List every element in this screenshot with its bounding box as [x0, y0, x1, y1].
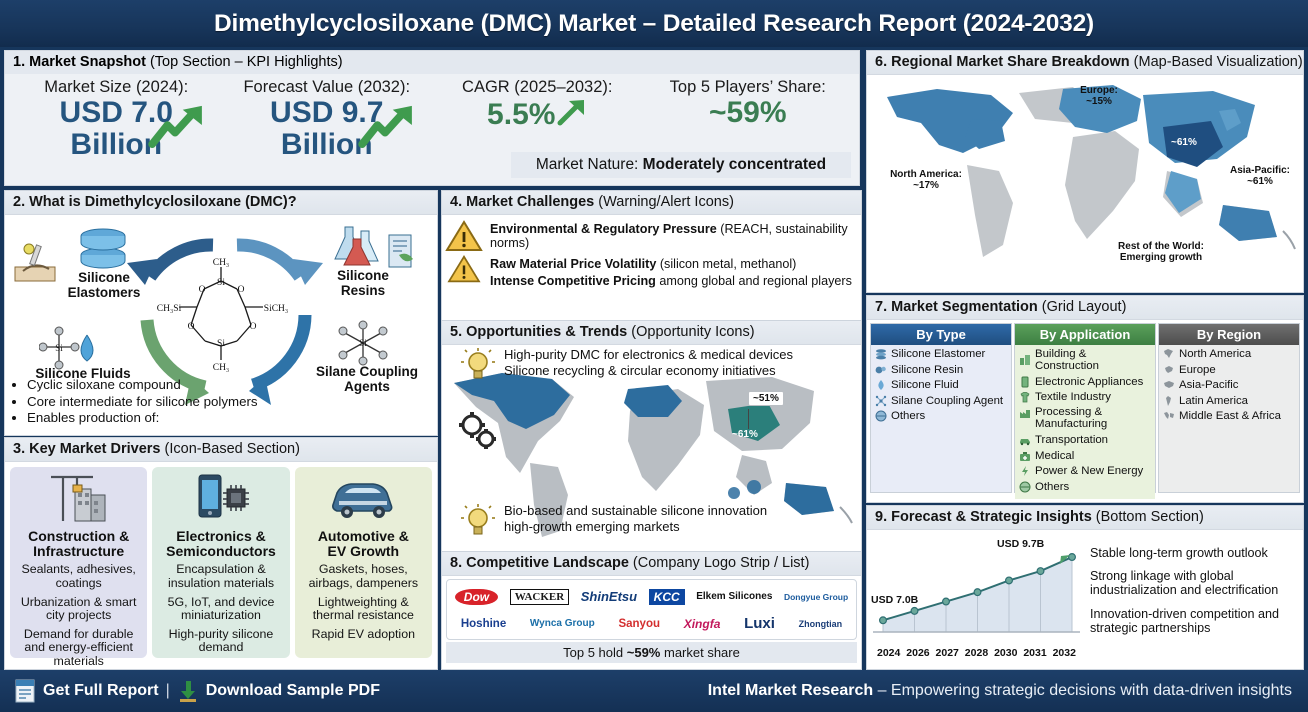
list-item[interactable]: Middle East & Africa: [1163, 410, 1297, 422]
forecast-chart-svg: [869, 536, 1084, 646]
forecast-body: 2024202620272028203020312032 USD 7.0B US…: [867, 530, 1303, 663]
list-item: Core intermediate for silicone polymers: [27, 394, 258, 410]
forecast-start-label: USD 7.0B: [871, 594, 918, 606]
challenge-text: Raw Material Price Volatility (silicon m…: [490, 254, 796, 271]
segment-label: Medical: [1035, 450, 1074, 462]
share-suffix: market share: [660, 645, 739, 660]
list-item[interactable]: Building & Construction: [1019, 348, 1153, 372]
driver-title: Electronics &Semiconductors: [156, 529, 285, 559]
circle-others-icon: [875, 410, 887, 422]
list-item[interactable]: Textile Industry: [1019, 391, 1153, 403]
x-tick-label: 2027: [936, 647, 959, 659]
page-footer: Get Full Report | Download Sample PDF In…: [0, 670, 1308, 712]
logo-hoshine[interactable]: Hoshine: [461, 618, 506, 630]
segment-header-by-type: By Type: [871, 324, 1011, 345]
forecast-note: Stable long-term growth outlook: [1090, 546, 1299, 560]
map-label-rest-of-world: Rest of the World:Emerging growth: [1095, 241, 1227, 263]
challenge-bold: Raw Material Price Volatility: [490, 257, 656, 271]
challenge-rest: among global and regional players: [656, 274, 852, 288]
section-5-header: 5. Opportunities & Trends (Opportunity I…: [442, 321, 861, 345]
logo-wynca[interactable]: Wynca Group: [530, 619, 595, 629]
section-9-title: 9. Forecast & Strategic Insights: [875, 509, 1092, 525]
kpi-market-size: Market Size (2024): USD 7.0 Billion: [11, 78, 222, 174]
kpi-label: CAGR (2025–2032):: [432, 78, 643, 97]
forecast-line-chart: 2024202620272028203020312032 USD 7.0B US…: [869, 532, 1084, 661]
segment-label: Silicone Elastomer: [891, 348, 985, 360]
segmentation-grid: By Type Silicone Elastomer Silicone Resi…: [867, 320, 1303, 496]
svg-text:O: O: [250, 322, 257, 332]
list-item[interactable]: Transportation: [1019, 434, 1153, 446]
bolt-icon: [1019, 465, 1031, 477]
market-nature-badge: Market Nature: Moderately concentrated: [511, 152, 851, 178]
opportunities-body: High-purity DMC for electronics & medica…: [442, 345, 861, 545]
footer-actions: Get Full Report | Download Sample PDF: [0, 679, 380, 703]
segment-label: Others: [891, 410, 925, 422]
section-regional-market-share: 6. Regional Market Share Breakdown (Map-…: [866, 50, 1304, 293]
node-label-silane: Silane CouplingAgents: [301, 365, 433, 394]
kpi-label: Forecast Value (2032):: [222, 78, 433, 97]
driver-line: Urbanization & smart city projects: [14, 596, 143, 623]
logo-dow[interactable]: Dow: [455, 589, 498, 605]
driver-line: Demand for durable and energy-efficient …: [14, 628, 143, 669]
opportunity-text-bottom: Bio-based and sustainable silicone innov…: [504, 503, 767, 535]
footer-divider: |: [166, 682, 170, 700]
gears-icon: [456, 411, 500, 453]
challenge-bold: Intense Competitive Pricing: [490, 274, 656, 288]
section-9-subtitle: (Bottom Section): [1092, 509, 1204, 525]
section-2-header: 2. What is Dimethylcyclosiloxane (DMC)?: [5, 191, 437, 215]
driver-title: Construction &Infrastructure: [14, 529, 143, 559]
section-3-title: 3. Key Market Drivers: [13, 441, 161, 457]
driver-cards: Construction &Infrastructure Sealants, a…: [5, 462, 437, 662]
list-item[interactable]: Asia-Pacific: [1163, 379, 1297, 391]
dmc-diagram: SiSi OO OO CH₃CH₃ CH₃SiSiCH₃ S: [5, 215, 437, 429]
medical-bag-icon: [1019, 450, 1031, 462]
segment-label: Processing & Manufacturing: [1035, 407, 1153, 431]
forecast-note: Innovation-driven competition and strate…: [1090, 607, 1299, 635]
map-tag-asia-61: ~61%: [1171, 137, 1197, 148]
appliance-icon: [1019, 376, 1031, 388]
download-icon: [177, 679, 199, 703]
segment-header-by-application: By Application: [1015, 324, 1155, 345]
arrow-up-right-icon: [557, 98, 587, 126]
x-tick-label: 2026: [906, 647, 929, 659]
svg-text:O: O: [188, 322, 195, 332]
svg-text:Si: Si: [55, 343, 63, 353]
logo-elkem[interactable]: Elkem Silicones: [696, 592, 772, 602]
section-market-segmentation: 7. Market Segmentation (Grid Layout) By …: [866, 295, 1304, 503]
segmentation-column-by-type: By Type Silicone Elastomer Silicone Resi…: [870, 323, 1012, 493]
logo-wacker[interactable]: WACKER: [510, 589, 570, 605]
map-tag-leader-line: [748, 409, 749, 429]
logo-sanyou[interactable]: Sanyou: [618, 618, 660, 630]
list-item[interactable]: Others: [1019, 481, 1153, 493]
region-name: Rest of the World:: [1118, 241, 1204, 252]
segment-items-by-application: Building & Construction Electronic Appli…: [1015, 345, 1155, 499]
section-market-snapshot: 1. Market Snapshot (Top Section – KPI Hi…: [4, 50, 860, 186]
forecast-notes: Stable long-term growth outlook Strong l…: [1084, 532, 1301, 661]
report-document-icon: [14, 679, 36, 703]
silicone-resin-icon: [331, 225, 383, 269]
opportunity-text-top: High-purity DMC for electronics & medica…: [504, 347, 793, 379]
segmentation-column-by-application: By Application Building & Construction E…: [1014, 323, 1156, 493]
vehicle-icon: [1019, 434, 1031, 446]
list-item[interactable]: Processing & Manufacturing: [1019, 407, 1153, 431]
trend-up-arrow-icon: [148, 104, 206, 148]
resin-icon: [875, 364, 887, 376]
node-label-resins: SiliconeResins: [313, 269, 413, 298]
region-value: Emerging growth: [1120, 252, 1202, 263]
section-3-subtitle: (Icon-Based Section): [161, 441, 300, 457]
kpi-value: 5.5%: [487, 98, 555, 131]
forecast-note: Strong linkage with global industrializa…: [1090, 569, 1299, 597]
svg-text:CH₃: CH₃: [213, 258, 230, 268]
section-opportunities-trends: 5. Opportunities & Trends (Opportunity I…: [441, 320, 862, 552]
svg-text:Si: Si: [217, 278, 225, 288]
section-2-title: 2. What is Dimethylcyclosiloxane (DMC)?: [13, 194, 297, 210]
driver-card-electronics: Electronics &Semiconductors Encapsulatio…: [152, 467, 289, 658]
map-label-asia-pacific: Asia-Pacific:~61%: [1217, 165, 1303, 187]
trend-up-arrow-icon: [358, 104, 416, 148]
footer-brand: Intel Market Research – Empowering strat…: [708, 682, 1308, 700]
logo-zhongtian[interactable]: Zhongtian: [799, 619, 843, 629]
section-what-is-dmc: 2. What is Dimethylcyclosiloxane (DMC)?: [4, 190, 438, 436]
logo-row-1: Dow WACKER ShinEtsu KCC Elkem Silicones …: [449, 583, 854, 610]
node-label-elastomers: SiliconeElastomers: [49, 271, 159, 300]
list-item: Enables production of:: [27, 410, 258, 426]
segment-items-by-type: Silicone Elastomer Silicone Resin Silico…: [871, 345, 1011, 492]
section-4-header: 4. Market Challenges (Warning/Alert Icon…: [442, 191, 861, 215]
list-item[interactable]: Europe: [1163, 364, 1297, 376]
region-value: ~17%: [913, 180, 939, 191]
section-6-header: 6. Regional Market Share Breakdown (Map-…: [867, 51, 1303, 75]
page-title: Dimethylcyclosiloxane (DMC) Market – Det…: [214, 10, 1094, 38]
map-asia-pacific-icon: [1163, 379, 1175, 391]
lightbulb-icon: [458, 503, 498, 541]
driver-line: Encapsulation & insulation materials: [156, 563, 285, 590]
list-item[interactable]: Others: [875, 410, 1009, 422]
kpi-value: ~59%: [643, 98, 854, 128]
logo-row-2: Hoshine Wynca Group Sanyou Xingfa Luxi Z…: [449, 610, 854, 637]
section-9-header: 9. Forecast & Strategic Insights (Bottom…: [867, 506, 1303, 530]
section-8-subtitle: (Company Logo Strip / List): [629, 555, 810, 571]
segmentation-column-by-region: By Region North America Europe Asia-Paci…: [1158, 323, 1300, 493]
list-item[interactable]: Electronic Appliances: [1019, 376, 1153, 388]
warning-triangle-icon: [444, 254, 484, 284]
list-item[interactable]: Silane Coupling Agent: [875, 395, 1009, 407]
challenge-text: Intense Competitive Pricing among global…: [490, 271, 852, 288]
driver-line: Lightweighting & thermal resistance: [299, 596, 428, 623]
section-1-subtitle: (Top Section – KPI Highlights): [146, 54, 343, 70]
map-tag-61: ~61%: [732, 429, 758, 440]
droplet-icon: [875, 379, 887, 391]
region-value: ~61%: [1247, 176, 1273, 187]
section-7-title: 7. Market Segmentation: [875, 299, 1038, 315]
segment-label: Power & New Energy: [1035, 465, 1143, 477]
silicone-elastomer-icon: [77, 227, 129, 269]
section-forecast-strategic-insights: 9. Forecast & Strategic Insights (Bottom…: [866, 505, 1304, 670]
segment-label: Silicone Fluid: [891, 379, 959, 391]
section-competitive-landscape: 8. Competitive Landscape (Company Logo S…: [441, 551, 862, 670]
section-key-market-drivers: 3. Key Market Drivers (Icon-Based Sectio…: [4, 437, 438, 670]
factory-icon: [1019, 407, 1031, 419]
svg-text:CH₃Si: CH₃Si: [157, 304, 182, 314]
section-5-subtitle: (Opportunity Icons): [627, 324, 754, 340]
svg-text:O: O: [238, 285, 245, 295]
map-latin-america-icon: [1163, 395, 1175, 407]
section-7-header: 7. Market Segmentation (Grid Layout): [867, 296, 1303, 320]
dmc-bullet-list: Cyclic siloxane compound Core intermedia…: [13, 376, 258, 427]
car-icon: [327, 471, 399, 523]
section-1-header: 1. Market Snapshot (Top Section – KPI Hi…: [5, 51, 859, 74]
section-7-subtitle: (Grid Layout): [1038, 299, 1127, 315]
market-nature-value: Moderately concentrated: [643, 156, 826, 173]
map-europe-icon: [1163, 364, 1175, 376]
x-tick-label: 2028: [965, 647, 988, 659]
kpi-label: Top 5 Players’ Share:: [643, 78, 854, 97]
regional-world-map: North America:~17% Europe:~15% Asia-Paci…: [867, 75, 1303, 285]
circle-others-icon: [1019, 481, 1031, 493]
segment-label: Silicone Resin: [891, 364, 963, 376]
region-name: Europe:: [1080, 85, 1118, 96]
section-4-title: 4. Market Challenges: [450, 194, 594, 210]
construction-crane-icon: [47, 471, 111, 523]
list-item[interactable]: Silicone Resin: [875, 364, 1009, 376]
section-3-header: 3. Key Market Drivers (Icon-Based Sectio…: [5, 438, 437, 462]
smartphone-chip-icon: [189, 471, 253, 523]
x-tick-label: 2031: [1023, 647, 1046, 659]
forecast-x-axis: 2024202620272028203020312032: [869, 647, 1084, 659]
logo-kcc[interactable]: KCC: [649, 589, 685, 605]
logo-luxi[interactable]: Luxi: [744, 615, 775, 632]
get-full-report-link[interactable]: Get Full Report: [43, 682, 159, 700]
section-market-challenges: 4. Market Challenges (Warning/Alert Icon…: [441, 190, 862, 328]
svg-text:O: O: [199, 285, 206, 295]
share-prefix: Top 5 hold: [563, 645, 627, 660]
list-item[interactable]: Medical: [1019, 450, 1153, 462]
challenge-rest: (silicon metal, methanol): [656, 257, 796, 271]
map-label-north-america: North America:~17%: [871, 169, 981, 191]
section-5-title: 5. Opportunities & Trends: [450, 324, 627, 340]
logo-dongyue[interactable]: Dongyue Group: [784, 592, 848, 602]
brand-name: Intel Market Research: [708, 682, 873, 699]
top5-share-bar: Top 5 hold ~59% market share: [446, 642, 857, 663]
list-item[interactable]: Silicone Fluid: [875, 379, 1009, 391]
logo-shinetsu[interactable]: ShinEtsu: [581, 589, 637, 604]
segment-label: Latin America: [1179, 395, 1248, 407]
list-item[interactable]: Latin America: [1163, 395, 1297, 407]
x-tick-label: 2032: [1053, 647, 1076, 659]
driver-line: High-purity silicone demand: [156, 628, 285, 655]
market-nature-label: Market Nature:: [536, 156, 643, 173]
region-name: North America:: [890, 169, 962, 180]
driver-line: Sealants, adhesives, coatings: [14, 563, 143, 590]
list-item: Intense Competitive Pricing among global…: [444, 271, 857, 301]
section-6-subtitle: (Map-Based Visualization): [1130, 54, 1303, 70]
svg-text:Si: Si: [359, 338, 367, 348]
list-item[interactable]: North America: [1163, 348, 1297, 360]
driver-line: 5G, IoT, and device miniaturization: [156, 596, 285, 623]
region-name: Asia-Pacific:: [1230, 165, 1290, 176]
driver-line: Rapid EV adoption: [299, 628, 428, 642]
section-6-title: 6. Regional Market Share Breakdown: [875, 54, 1130, 70]
brand-tagline: – Empowering strategic decisions with da…: [873, 682, 1292, 699]
section-1-title: 1. Market Snapshot: [13, 54, 146, 70]
map-mea-icon: [1163, 410, 1175, 422]
infographic-page: Dimethylcyclosiloxane (DMC) Market – Det…: [0, 0, 1308, 712]
map-north-america-icon: [1163, 348, 1175, 360]
kpi-forecast-value: Forecast Value (2032): USD 9.7 Billion: [222, 78, 433, 174]
segment-label: North America: [1179, 348, 1251, 360]
list-item: Cyclic siloxane compound: [27, 377, 258, 393]
segment-label: Middle East & Africa: [1179, 410, 1281, 422]
svg-text:SiCH₃: SiCH₃: [264, 304, 288, 314]
section-4-subtitle: (Warning/Alert Icons): [594, 194, 734, 210]
challenge-list: Environmental & Regulatory Pressure (REA…: [442, 215, 861, 304]
page-header: Dimethylcyclosiloxane (DMC) Market – Det…: [0, 0, 1308, 47]
section-8-header: 8. Competitive Landscape (Company Logo S…: [442, 552, 861, 576]
building-icon: [1019, 354, 1031, 366]
driver-title: Automotive &EV Growth: [299, 529, 428, 559]
x-tick-label: 2024: [877, 647, 900, 659]
driver-card-automotive: Automotive &EV Growth Gaskets, hoses, ai…: [295, 467, 432, 658]
forecast-end-label: USD 9.7B: [997, 538, 1044, 550]
logo-strip: Dow WACKER ShinEtsu KCC Elkem Silicones …: [446, 579, 857, 640]
driver-card-construction: Construction &Infrastructure Sealants, a…: [10, 467, 147, 658]
segment-label: Silane Coupling Agent: [891, 395, 1003, 407]
map-label-europe: Europe:~15%: [1059, 85, 1139, 107]
x-tick-label: 2030: [994, 647, 1017, 659]
segment-label: Electronic Appliances: [1035, 376, 1143, 388]
lightbulb-icon: [458, 347, 498, 385]
section-8-title: 8. Competitive Landscape: [450, 555, 629, 571]
region-value: ~15%: [1086, 96, 1112, 107]
challenge-bold: Environmental & Regulatory Pressure: [490, 222, 717, 236]
molecule-icon: [875, 395, 887, 407]
list-item[interactable]: Silicone Elastomer: [875, 348, 1009, 360]
segment-label: Europe: [1179, 364, 1216, 376]
segment-header-by-region: By Region: [1159, 324, 1299, 345]
logo-xingfa[interactable]: Xingfa: [684, 617, 721, 631]
map-tag-51: ~51%: [748, 391, 784, 406]
download-sample-pdf-link[interactable]: Download Sample PDF: [206, 682, 380, 700]
document-icon: [387, 233, 417, 271]
warning-triangle-icon: [444, 219, 484, 253]
kpi-label: Market Size (2024):: [11, 78, 222, 97]
driver-line: Gaskets, hoses, airbags, dampeners: [299, 563, 428, 590]
svg-text:CH₃: CH₃: [213, 363, 230, 373]
list-item: Environmental & Regulatory Pressure (REA…: [444, 219, 857, 253]
segment-label: Building & Construction: [1035, 348, 1153, 372]
segment-label: Others: [1035, 481, 1069, 493]
segment-label: Textile Industry: [1035, 391, 1111, 403]
share-value: ~59%: [627, 645, 661, 660]
list-item[interactable]: Power & New Energy: [1019, 465, 1153, 477]
stack-icon: [875, 348, 887, 360]
segment-items-by-region: North America Europe Asia-Pacific Latin …: [1159, 345, 1299, 492]
challenge-text: Environmental & Regulatory Pressure (REA…: [490, 219, 857, 250]
segment-label: Transportation: [1035, 434, 1108, 446]
svg-text:Si: Si: [217, 339, 225, 349]
kpi-value-wrap: 5.5%: [432, 98, 643, 130]
segment-label: Asia-Pacific: [1179, 379, 1239, 391]
shirt-icon: [1019, 391, 1031, 403]
